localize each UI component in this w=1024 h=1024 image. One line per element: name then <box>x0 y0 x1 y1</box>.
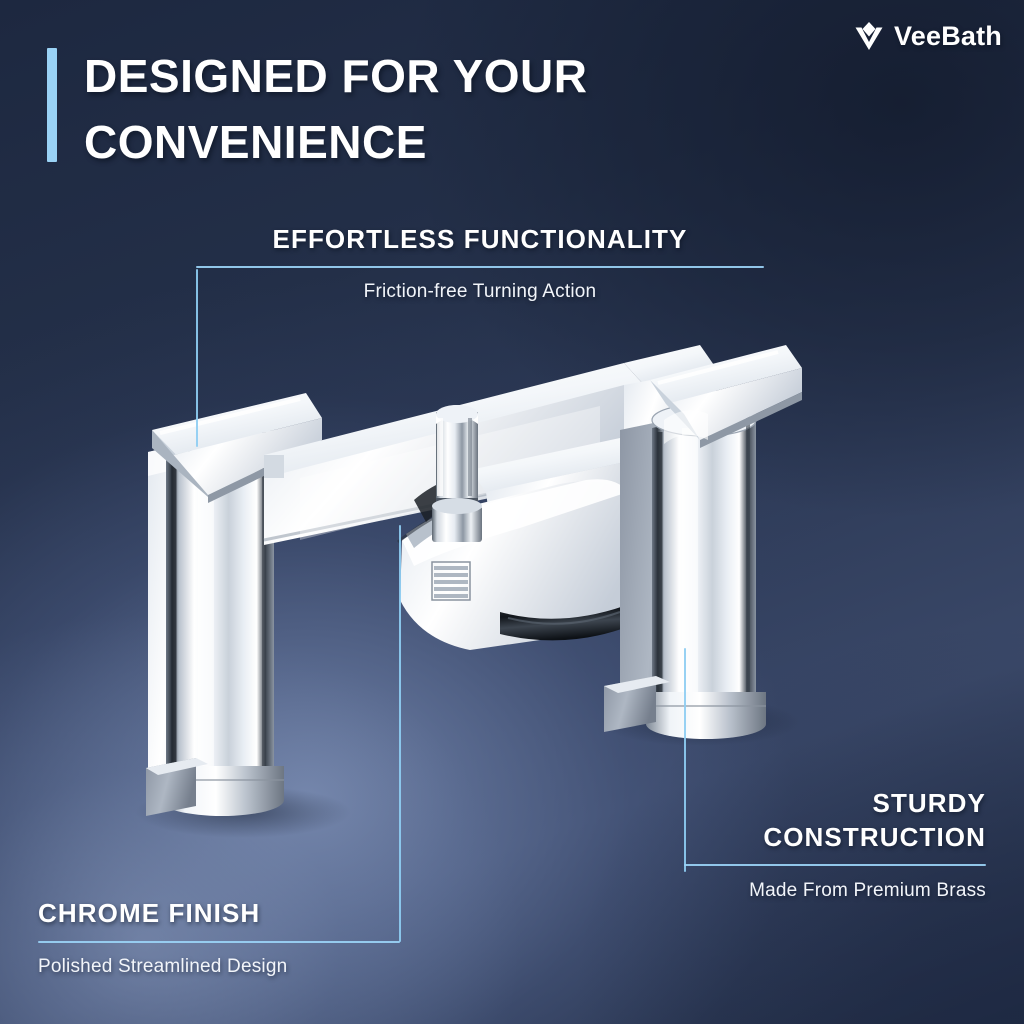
leader-line-chrome-finish <box>399 525 401 942</box>
headline-accent-bar <box>47 48 57 162</box>
callout-title: EFFORTLESS FUNCTIONALITY <box>196 222 764 256</box>
chevron-diamond-logo-icon <box>853 20 885 52</box>
brand-name: VeeBath <box>894 21 1002 52</box>
callout-sturdy-construction: STURDY CONSTRUCTION Made From Premium Br… <box>684 786 986 905</box>
callout-chrome-finish: CHROME FINISH Polished Streamlined Desig… <box>38 896 400 981</box>
callout-subtitle: Friction-free Turning Action <box>196 278 764 306</box>
page-title: DESIGNED FOR YOUR CONVENIENCE <box>84 43 724 175</box>
callout-title: CHROME FINISH <box>38 896 400 930</box>
callout-title-line1: STURDY <box>684 786 986 820</box>
callout-rule <box>196 266 764 268</box>
callout-subtitle: Made From Premium Brass <box>684 877 986 905</box>
callout-rule <box>684 864 986 866</box>
callout-rule <box>38 941 400 943</box>
callout-title-line2: CONSTRUCTION <box>684 820 986 854</box>
callout-effortless-functionality: EFFORTLESS FUNCTIONALITY Friction-free T… <box>196 222 764 306</box>
callout-subtitle: Polished Streamlined Design <box>38 953 400 981</box>
brand-logo[interactable]: VeeBath <box>853 20 1002 52</box>
